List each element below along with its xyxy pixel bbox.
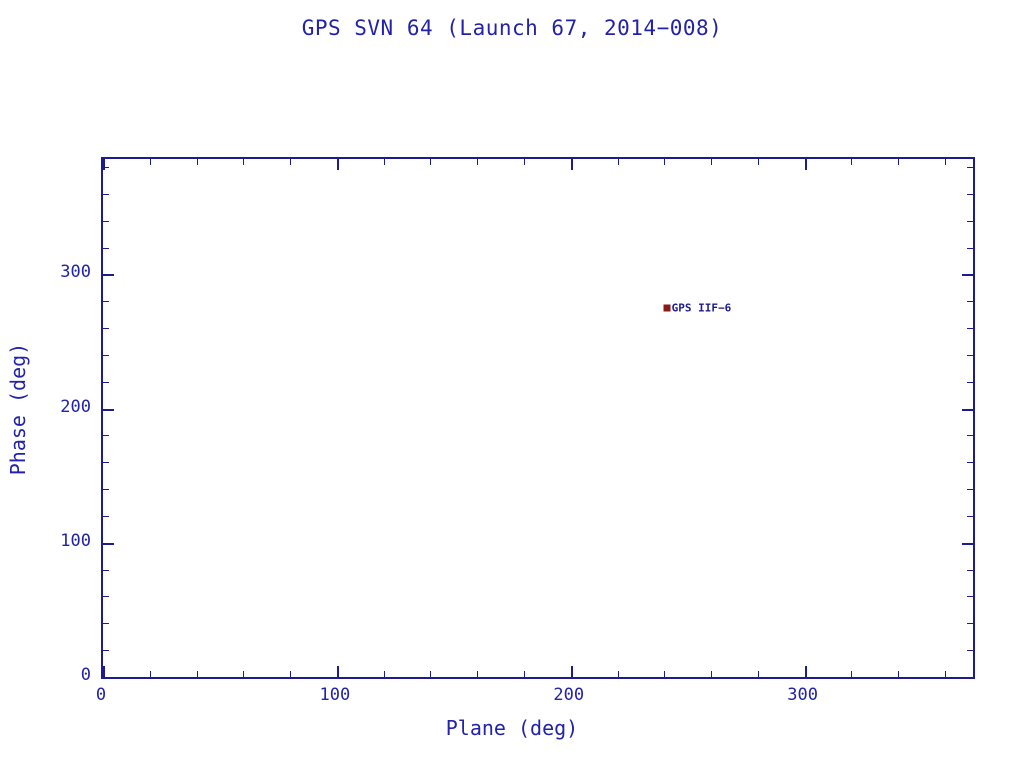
x-tick-major	[571, 666, 573, 677]
y-tick-right-minor	[967, 221, 973, 222]
y-tick-minor	[103, 596, 109, 597]
x-tick-minor	[290, 671, 291, 677]
x-tick-top-minor	[430, 159, 431, 165]
y-tick-minor	[103, 301, 109, 302]
y-tick-minor	[103, 435, 109, 436]
y-tick-right-minor	[967, 623, 973, 624]
y-tick-right-minor	[967, 328, 973, 329]
x-tick-top-minor	[384, 159, 385, 165]
x-tick-top-major	[103, 159, 105, 170]
y-tick-label: 100	[21, 531, 91, 551]
y-tick-major	[103, 677, 114, 679]
y-tick-right-minor	[967, 248, 973, 249]
y-tick-major	[103, 409, 114, 411]
y-tick-right-major	[962, 274, 973, 276]
x-tick-top-minor	[898, 159, 899, 165]
y-tick-minor	[103, 328, 109, 329]
y-tick-minor	[103, 382, 109, 383]
x-tick-minor	[664, 671, 665, 677]
y-tick-right-minor	[967, 489, 973, 490]
x-tick-major	[805, 666, 807, 677]
x-axis-title: Plane (deg)	[0, 716, 1024, 740]
x-tick-top-minor	[524, 159, 525, 165]
y-tick-minor	[103, 570, 109, 571]
y-tick-right-major	[962, 543, 973, 545]
y-tick-minor	[103, 623, 109, 624]
y-tick-minor	[103, 167, 109, 168]
y-tick-minor	[103, 516, 109, 517]
y-tick-right-minor	[967, 301, 973, 302]
x-tick-minor	[758, 671, 759, 677]
y-tick-right-minor	[967, 435, 973, 436]
y-tick-minor	[103, 462, 109, 463]
x-tick-top-minor	[618, 159, 619, 165]
y-tick-right-minor	[967, 355, 973, 356]
x-tick-minor	[430, 671, 431, 677]
x-tick-label: 0	[96, 685, 106, 705]
x-tick-label: 100	[320, 685, 351, 705]
x-tick-minor	[197, 671, 198, 677]
y-tick-right-minor	[967, 650, 973, 651]
y-tick-label: 300	[21, 262, 91, 282]
x-tick-minor	[384, 671, 385, 677]
data-point-label: GPS IIF−6	[672, 301, 732, 314]
y-tick-right-minor	[967, 462, 973, 463]
x-tick-top-minor	[197, 159, 198, 165]
x-tick-minor	[898, 671, 899, 677]
y-tick-right-major	[962, 409, 973, 411]
x-tick-top-minor	[945, 159, 946, 165]
x-tick-top-minor	[290, 159, 291, 165]
y-tick-label: 0	[21, 665, 91, 685]
y-tick-major	[103, 543, 114, 545]
x-tick-minor	[945, 671, 946, 677]
x-tick-minor	[524, 671, 525, 677]
x-tick-top-minor	[477, 159, 478, 165]
y-tick-right-minor	[967, 596, 973, 597]
x-tick-top-major	[571, 159, 573, 170]
y-tick-right-minor	[967, 194, 973, 195]
x-tick-minor	[851, 671, 852, 677]
y-tick-minor	[103, 489, 109, 490]
x-tick-top-minor	[711, 159, 712, 165]
y-tick-minor	[103, 221, 109, 222]
x-tick-major	[103, 666, 105, 677]
y-tick-minor	[103, 248, 109, 249]
y-tick-label: 200	[21, 397, 91, 417]
y-tick-right-minor	[967, 516, 973, 517]
x-tick-minor	[477, 671, 478, 677]
y-tick-right-minor	[967, 382, 973, 383]
x-tick-top-minor	[758, 159, 759, 165]
chart-title: GPS SVN 64 (Launch 67, 2014−008)	[0, 16, 1024, 40]
x-tick-top-minor	[664, 159, 665, 165]
plot-area: GPS IIF−6	[101, 157, 975, 679]
x-tick-top-major	[805, 159, 807, 170]
y-tick-right-minor	[967, 167, 973, 168]
x-tick-top-major	[337, 159, 339, 170]
x-tick-minor	[150, 671, 151, 677]
y-tick-right-minor	[967, 570, 973, 571]
x-tick-top-minor	[243, 159, 244, 165]
y-tick-minor	[103, 194, 109, 195]
x-tick-minor	[618, 671, 619, 677]
x-tick-minor	[243, 671, 244, 677]
y-tick-major	[103, 274, 114, 276]
y-tick-right-major	[962, 677, 973, 679]
y-tick-minor	[103, 355, 109, 356]
x-tick-major	[337, 666, 339, 677]
x-tick-label: 300	[787, 685, 818, 705]
x-tick-top-minor	[851, 159, 852, 165]
data-point-marker[interactable]	[663, 304, 670, 311]
y-tick-minor	[103, 650, 109, 651]
x-tick-label: 200	[553, 685, 584, 705]
x-tick-top-minor	[150, 159, 151, 165]
x-tick-minor	[711, 671, 712, 677]
